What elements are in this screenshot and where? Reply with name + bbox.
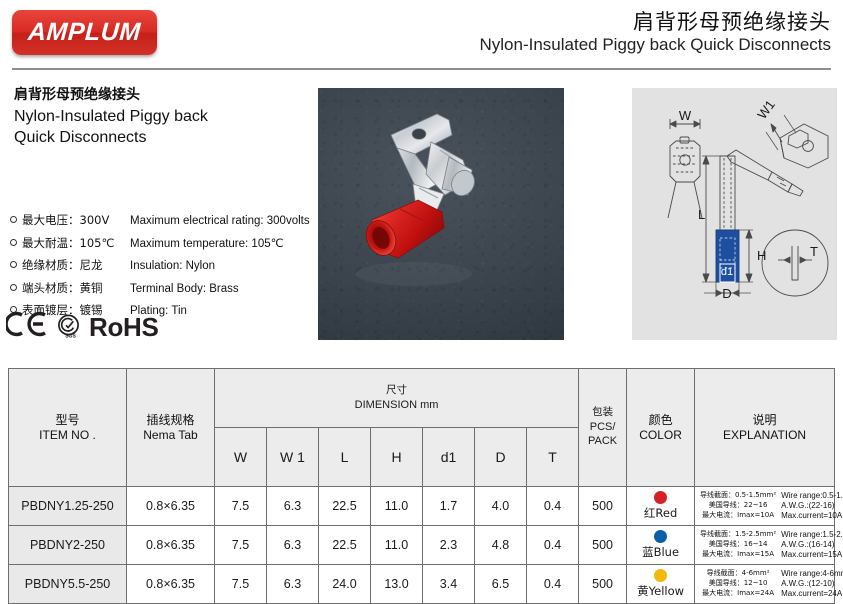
spec-item: 绝缘材质：尼龙 Insulation: Nylon [10, 257, 320, 273]
spec-label-cn: 绝缘材质：尼龙 [22, 257, 130, 273]
explanation-en: Max.current=15A [781, 550, 842, 560]
header-title-en: Nylon-Insulated Piggy back Quick Disconn… [480, 35, 832, 55]
spec-label-cn: 最大耐温：105℃ [22, 235, 130, 251]
dimension-label-w1: W1 [754, 97, 778, 122]
table-row: PBDNY1.25-250 0.8×6.35 7.5 6.3 22.5 11.0… [9, 487, 835, 526]
header-divider [12, 68, 831, 70]
header-title-cn: 肩背形母预绝缘接头 [633, 6, 831, 36]
cell-t: 0.4 [527, 526, 579, 565]
cell-color: 红Red [627, 487, 695, 526]
color-swatch-icon [654, 530, 667, 543]
cell-h: 13.0 [371, 565, 423, 604]
ce-mark-icon [6, 310, 48, 343]
header-item-no: 型号 ITEM NO . [9, 369, 127, 487]
cell-w1: 6.3 [267, 526, 319, 565]
dimension-label-w: W [679, 108, 692, 123]
header-pack-cn: 包装 [579, 406, 626, 420]
cell-color: 蓝Blue [627, 526, 695, 565]
header-dim-h: H [371, 428, 423, 487]
page-header: AMPLUM 肩背形母预绝缘接头 Nylon-Insulated Piggy b… [0, 0, 843, 72]
explanation-line: 最大电流：Imax=10A Max.current=10A [695, 511, 834, 521]
explanation-cn: 最大电流：Imax=24A [695, 589, 781, 599]
cell-d: 4.8 [475, 526, 527, 565]
rohs-mark-label: RoHS [89, 314, 159, 340]
header-dim-d: D [475, 428, 527, 487]
header-pack: 包装 PCS/ PACK [579, 369, 627, 487]
cell-t: 0.4 [527, 487, 579, 526]
bullet-icon [10, 284, 17, 291]
cell-explanation: 导线截面：1.5-2.5mm² Wire range:1.5-2.5mm² 美国… [695, 526, 835, 565]
explanation-line: 美国导线：12~10 A.W.G.:(12-10) [695, 579, 834, 589]
color-swatch-icon [654, 491, 667, 504]
explanation-line: 美国导线：22~16 A.W.G.:(22-16) [695, 501, 834, 511]
certification-marks: SGS RoHS [6, 310, 159, 343]
bullet-icon [10, 261, 17, 268]
product-title-en-line1: Nylon-Insulated Piggy back [14, 108, 208, 125]
header-explanation: 说明 EXPLANATION [695, 369, 835, 487]
explanation-line: 导线截面：1.5-2.5mm² Wire range:1.5-2.5mm² [695, 530, 834, 540]
cell-nema: 0.8×6.35 [127, 526, 215, 565]
color-label: 黄Yellow [637, 584, 684, 598]
cell-w: 7.5 [215, 526, 267, 565]
header-item-no-cn: 型号 [9, 413, 126, 428]
bullet-icon [10, 239, 17, 246]
product-title-block: 肩背形母预绝缘接头 Nylon-Insulated Piggy back Qui… [14, 84, 314, 148]
spec-label-en: Insulation: Nylon [130, 260, 215, 272]
cell-nema: 0.8×6.35 [127, 565, 215, 604]
explanation-en: A.W.G.:(16-14) [781, 540, 834, 550]
spec-item: 端头材质：黄铜 Terminal Body: Brass [10, 280, 320, 296]
header-dim-w1: W 1 [267, 428, 319, 487]
table-header: 型号 ITEM NO . 插线规格 Nema Tab 尺寸 DIMENSION … [9, 369, 835, 487]
cell-d1: 2.3 [423, 526, 475, 565]
spec-label-en: Terminal Body: Brass [130, 283, 239, 295]
explanation-cn: 导线截面：0.5-1.5mm² [695, 491, 781, 501]
cell-l: 22.5 [319, 487, 371, 526]
cell-d: 6.5 [475, 565, 527, 604]
datasheet-page: AMPLUM 肩背形母预绝缘接头 Nylon-Insulated Piggy b… [0, 0, 843, 550]
header-dim-t: T [527, 428, 579, 487]
header-dimension-cn: 尺寸 [215, 384, 578, 398]
technical-drawing: W L H d1 D T W1 [632, 88, 837, 340]
cell-item-no: PBDNY2-250 [9, 526, 127, 565]
product-title-en: Nylon-Insulated Piggy back Quick Disconn… [14, 106, 314, 148]
header-dim-d1: d1 [423, 428, 475, 487]
explanation-cn: 最大电流：Imax=15A [695, 550, 781, 560]
bullet-icon [10, 216, 17, 223]
cell-explanation: 导线截面：4-6mm² Wire range:4-6mm² 美国导线：12~10… [695, 565, 835, 604]
dimension-label-t: T [810, 244, 818, 259]
cell-d: 4.0 [475, 487, 527, 526]
explanation-cn: 导线截面：4-6mm² [695, 569, 781, 579]
cell-h: 11.0 [371, 526, 423, 565]
header-pack-en2: PACK [579, 434, 626, 448]
header-color-cn: 颜色 [627, 413, 694, 428]
cell-t: 0.4 [527, 565, 579, 604]
svg-text:SGS: SGS [65, 333, 76, 339]
table-row: PBDNY5.5-250 0.8×6.35 7.5 6.3 24.0 13.0 … [9, 565, 835, 604]
logo-text: AMPLUM [27, 18, 142, 47]
header-dim-l: L [319, 428, 371, 487]
cell-pack: 500 [579, 565, 627, 604]
header-nema-tab: 插线规格 Nema Tab [127, 369, 215, 487]
cell-pack: 500 [579, 526, 627, 565]
header-color-en: COLOR [627, 428, 694, 443]
explanation-cn: 美国导线：12~10 [695, 579, 781, 589]
company-logo: AMPLUM [12, 10, 157, 55]
cell-pack: 500 [579, 487, 627, 526]
cell-color: 黄Yellow [627, 565, 695, 604]
dimension-label-d: D [722, 286, 731, 301]
specification-list: 最大电压：300V Maximum electrical rating: 300… [10, 212, 320, 325]
cell-explanation: 导线截面：0.5-1.5mm² Wire range:0.5-1.5mm² 美国… [695, 487, 835, 526]
header-item-no-en: ITEM NO . [9, 428, 126, 443]
explanation-en: A.W.G.:(22-16) [781, 501, 834, 511]
explanation-line: 最大电流：Imax=24A Max.current=24A [695, 589, 834, 599]
cell-d1: 3.4 [423, 565, 475, 604]
cell-w1: 6.3 [267, 565, 319, 604]
header-nema-cn: 插线规格 [127, 413, 214, 428]
header-explanation-en: EXPLANATION [695, 428, 834, 443]
explanation-en: Wire range:4-6mm² [781, 569, 843, 579]
explanation-line: 导线截面：0.5-1.5mm² Wire range:0.5-1.5mm² [695, 491, 834, 501]
explanation-en: Max.current=24A [781, 589, 842, 599]
explanation-line: 美国导线：16~14 A.W.G.:(16-14) [695, 540, 834, 550]
header-pack-en1: PCS/ [579, 420, 626, 434]
header-dimension-group: 尺寸 DIMENSION mm [215, 369, 579, 428]
sgs-mark-icon: SGS [55, 313, 82, 340]
table-row: PBDNY2-250 0.8×6.35 7.5 6.3 22.5 11.0 2.… [9, 526, 835, 565]
cell-w: 7.5 [215, 565, 267, 604]
product-photo [318, 88, 564, 340]
explanation-en: Wire range:0.5-1.5mm² [781, 491, 843, 501]
header-dim-w: W [215, 428, 267, 487]
explanation-cn: 美国导线：16~14 [695, 540, 781, 550]
explanation-line: 最大电流：Imax=15A Max.current=15A [695, 550, 834, 560]
product-title-en-line2: Quick Disconnects [14, 129, 147, 146]
spec-label-en: Maximum electrical rating: 300volts [130, 215, 310, 227]
cell-w1: 6.3 [267, 487, 319, 526]
color-label: 蓝Blue [642, 545, 679, 559]
explanation-line: 导线截面：4-6mm² Wire range:4-6mm² [695, 569, 834, 579]
explanation-cn: 美国导线：22~16 [695, 501, 781, 511]
cell-l: 24.0 [319, 565, 371, 604]
spec-label-cn: 端头材质：黄铜 [22, 280, 130, 296]
explanation-cn: 导线截面：1.5-2.5mm² [695, 530, 781, 540]
explanation-en: Max.current=10A [781, 511, 842, 521]
color-swatch-icon [654, 569, 667, 582]
spec-label-en: Maximum temperature: 105℃ [130, 236, 284, 250]
cell-nema: 0.8×6.35 [127, 487, 215, 526]
dimension-label-d1: d1 [721, 266, 733, 278]
explanation-cn: 最大电流：Imax=10A [695, 511, 781, 521]
header-explanation-cn: 说明 [695, 413, 834, 428]
cell-d1: 1.7 [423, 487, 475, 526]
dimension-label-h: H [757, 248, 766, 263]
cell-w: 7.5 [215, 487, 267, 526]
header-dimension-en: DIMENSION mm [215, 398, 578, 412]
header-color: 颜色 COLOR [627, 369, 695, 487]
explanation-en: A.W.G.:(12-10) [781, 579, 834, 589]
header-nema-en: Nema Tab [127, 428, 214, 443]
spec-label-cn: 最大电压：300V [22, 212, 130, 228]
color-label: 红Red [644, 506, 677, 520]
dimension-label-l: L [698, 207, 705, 222]
specification-table: 型号 ITEM NO . 插线规格 Nema Tab 尺寸 DIMENSION … [8, 368, 835, 604]
spec-item: 最大电压：300V Maximum electrical rating: 300… [10, 212, 320, 228]
spec-item: 最大耐温：105℃ Maximum temperature: 105℃ [10, 235, 320, 251]
product-title-cn: 肩背形母预绝缘接头 [14, 84, 314, 104]
cell-item-no: PBDNY5.5-250 [9, 565, 127, 604]
cell-l: 22.5 [319, 526, 371, 565]
table-body: PBDNY1.25-250 0.8×6.35 7.5 6.3 22.5 11.0… [9, 487, 835, 604]
cell-item-no: PBDNY1.25-250 [9, 487, 127, 526]
cell-h: 11.0 [371, 487, 423, 526]
explanation-en: Wire range:1.5-2.5mm² [781, 530, 843, 540]
